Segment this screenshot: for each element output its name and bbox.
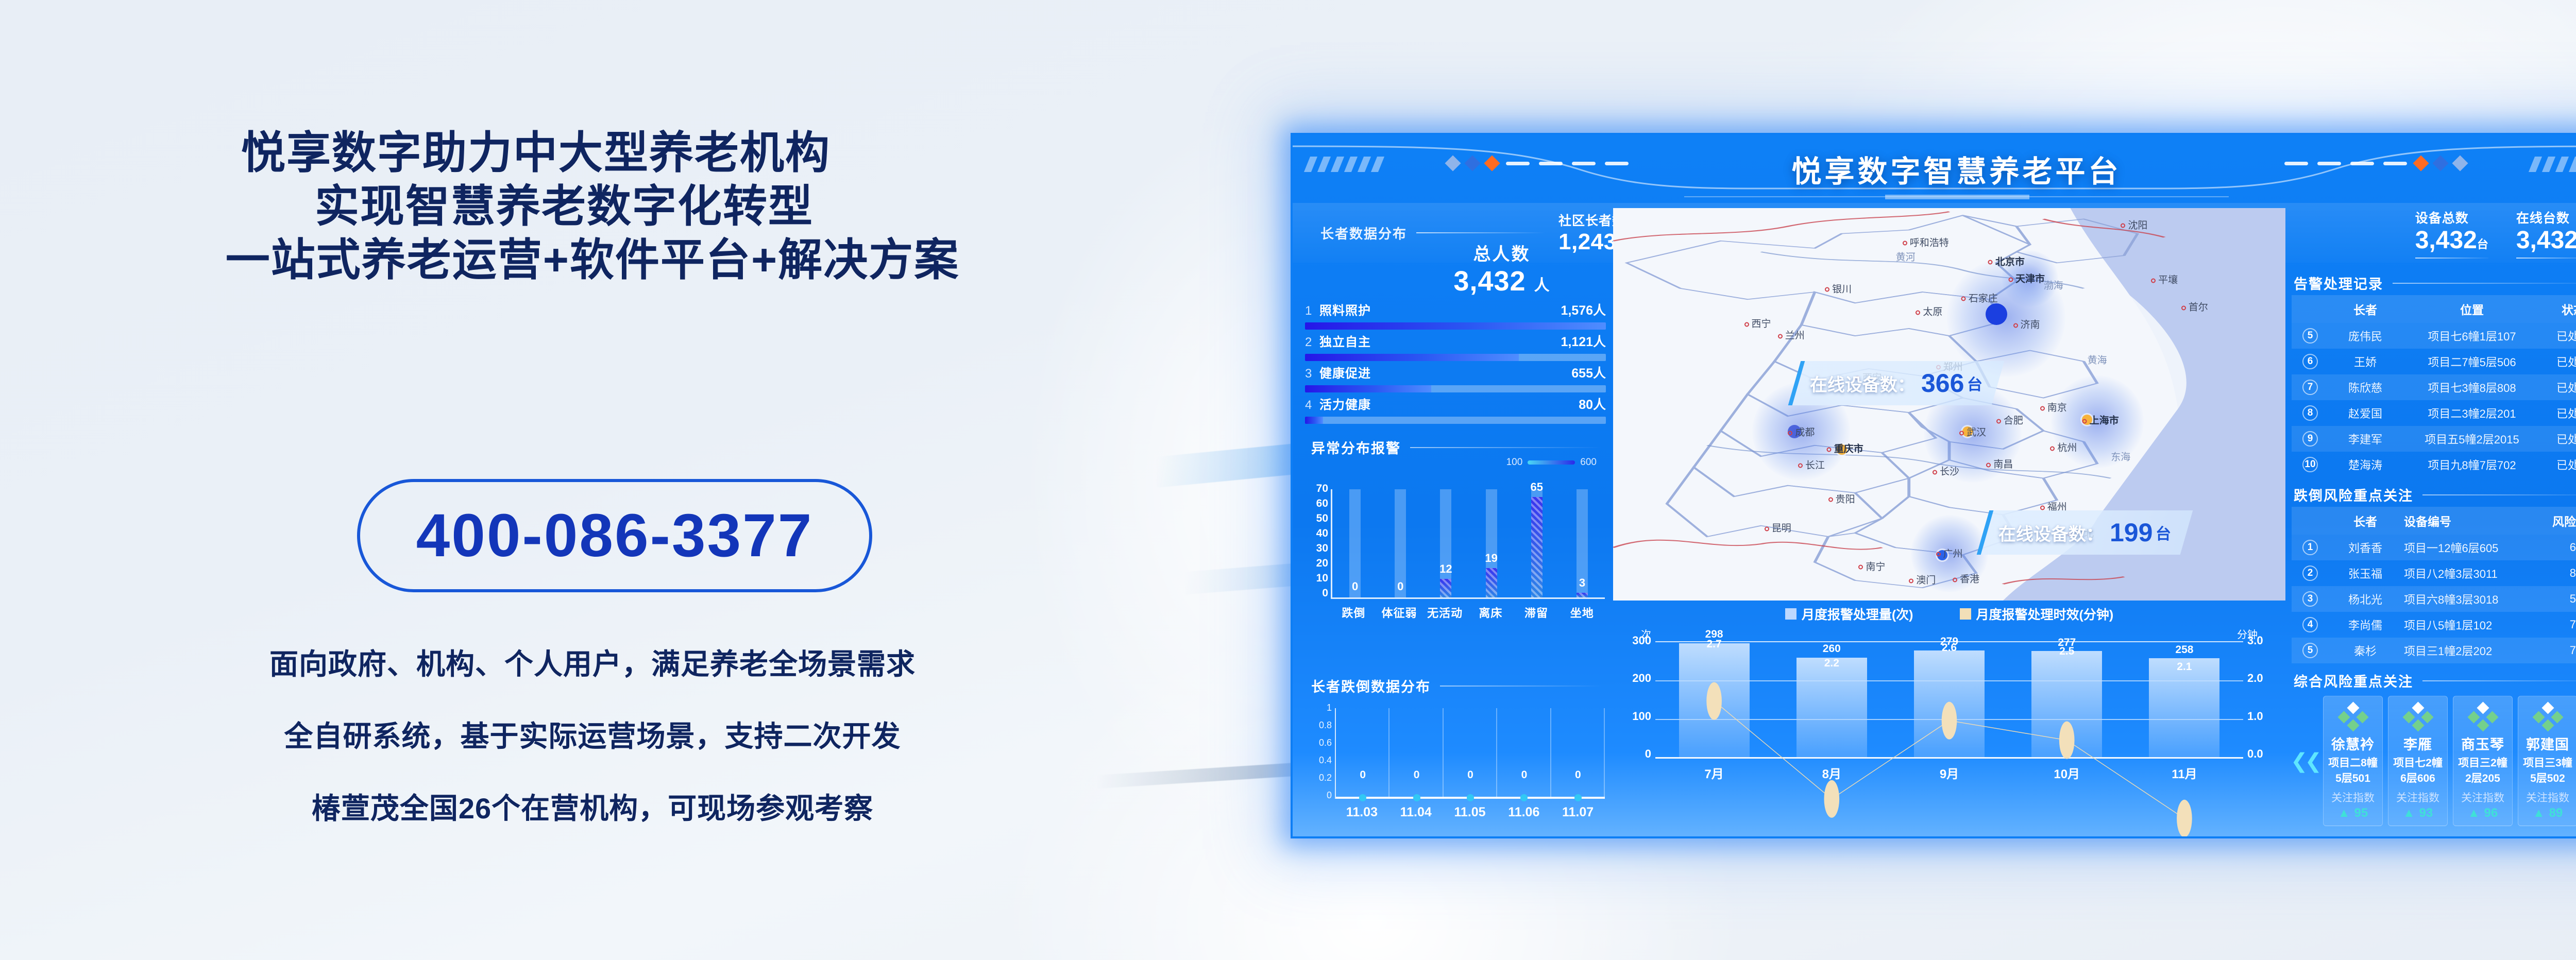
y-tick-left: 100 [1624,711,1651,722]
row-status: 已处理 [2540,328,2576,344]
risk-card[interactable]: 李雁 项目七2幢6层606 关注指数 ▲93 [2388,696,2448,826]
table-row[interactable]: 1 刘香香 项目一12幢6层605 67 [2292,535,2576,560]
map-city-label: 上海市 [2082,413,2119,427]
row-status: 已处理 [2540,431,2576,447]
y-tick: 30 [1308,543,1328,554]
row-device-id: 项目一12幢6层605 [2404,539,2545,556]
device-stats: 设备总数 3,432台 在线台数 3,432台 [2415,203,2576,263]
row-elder-name: 赵爱国 [2327,405,2404,421]
fall-points [1336,794,1605,801]
map-city-label: 南宁 [1858,559,1885,573]
card-index-label: 关注指数 [2326,790,2380,805]
triangle-up-icon: ▲ [2338,806,2350,820]
row-index: 7 [2294,380,2327,395]
card-address: 项目三3幢5层502 [2520,755,2575,785]
row-value: 80人 [1579,395,1606,413]
y-tick-left: 0 [1624,748,1651,760]
bar-value: 12 [1430,562,1461,576]
row-index: 3 [2294,591,2327,607]
map-city-label: 平壤 [2151,272,2178,286]
map-city-label: 银川 [1825,281,1852,295]
row-status: 已处理 [2540,405,2576,421]
row-elder-name: 李建军 [2327,431,2404,447]
card-index-value: ▲93 [2391,806,2445,820]
stat-value: 1,243 [1558,229,1617,254]
card-index-label: 关注指数 [2455,790,2510,805]
row-name: 照料照护 [1319,300,1371,318]
table-row[interactable]: 2 张玉福 项目八2幢3层3011 88 [2292,560,2576,586]
distribution-row: 2 独立自主 1,121人 [1305,332,1606,361]
card-name: 李雁 [2391,733,2445,753]
row-index: 6 [2294,354,2327,369]
map-city-label: 济南 [2013,317,2040,331]
bar-value: 3 [1567,576,1598,590]
map-tag-label: 在线设备数： [1998,520,2104,545]
fall-plot: 10.80.60.40.20 00000 [1335,708,1605,799]
row-index: 5 [2294,643,2327,658]
row-elder-name: 杨北光 [2327,591,2404,607]
map-city-label: 贵阳 [1828,491,1855,505]
map-tag-online-199: 在线设备数： 199 台 [1976,510,2193,555]
map-tag-value: 199 [2110,518,2153,547]
row-bar-track [1305,322,1606,330]
row-index: 8 [2294,405,2327,421]
dashboard-window: 悦享数字智慧养老平台 长者数据分布 社区长者数 1,243人 80岁以上：859… [1291,133,2576,838]
fall-gridlines [1336,708,1605,799]
abnormal-plot: 706050403020100 0 0 12 19 65 3 [1331,489,1605,597]
map-city-label: 澳门 [1909,573,1936,587]
row-elder-name: 张玉福 [2327,565,2404,581]
legend-max: 600 [1580,457,1597,468]
map-city-label: 沈阳 [2121,217,2147,231]
alarm-records-panel: 告警处理记录 长者 位置 状态 5 庞伟民 项目七6幢1层107 已处理 6 王… [2289,268,2576,477]
point-value: 0 [1551,769,1605,781]
map-city-label: 杭州 [2050,440,2077,454]
triangle-up-icon: ▲ [2468,806,2480,820]
panel-title-text: 长者跌倒数据分布 [1311,676,1431,696]
card-index-value: ▲96 [2455,806,2510,820]
row-risk-index: 88 [2545,567,2576,580]
monthly-legend: 月度报警处理量(次) 月度报警处理时效(分钟) [1619,605,2279,623]
bar-column: 12 [1423,489,1468,597]
elder-distribution-title: 长者数据分布 [1320,224,1407,243]
row-elder-name: 王娇 [2327,353,2404,370]
fall-x-axis: 11.0311.0411.0511.0611.07 [1335,805,1605,820]
row-elder-name: 楚海涛 [2327,456,2404,473]
map-city-label: 兰州 [1778,328,1805,342]
monthly-plot: 3002001000 3.02.01.00.0 298 260 279 277 … [1655,641,2243,759]
x-tick: 11.06 [1497,805,1551,820]
bar-value: 0 [1340,580,1370,593]
subtext-1: 面向政府、机构、个人用户，满足养老全场景需求 [0,641,1185,683]
map-pin-beijing[interactable] [1986,303,2007,325]
table-row[interactable]: 5 秦杉 项目三1幢2层202 78 [2292,638,2576,663]
headline-2: 实现智慧养老数字化转型 [0,180,1185,233]
row-elder-name: 秦杉 [2327,642,2404,659]
legend-gradient-bar [1528,460,1575,465]
y-tick: 50 [1308,513,1328,524]
map-tag-value: 366 [1921,368,1964,398]
stat-value: 3,432 [2415,227,2477,254]
map-city-label: 长沙 [1933,464,1959,478]
bar-column: 65 [1514,489,1560,597]
table-header: 长者 位置 状态 [2292,295,2576,323]
fall-distribution-chart: 长者跌倒数据分布 10.80.60.40.20 00000 11.0311.04… [1301,671,1610,836]
map-city-label: 合肥 [1996,413,2023,427]
line-value: 2.6 [1942,642,1957,654]
card-name: 郭建国 [2520,733,2575,753]
abnormal-alarm-chart: 异常分布报警 100 600 706050403020100 0 0 12 [1301,430,1610,666]
y-tick: 0.8 [1307,721,1332,730]
risk-card[interactable]: 徐慧衿 项目二8幢5层501 关注指数 ▲95 [2323,696,2383,826]
distribution-rows: 1 照料照护 1,576人 2 独立自主 1,121人 3 健康促进 655人 … [1301,300,1610,424]
fall-risk-heading: 跌倒风险重点关注 [2289,479,2576,507]
y-tick-right: 0.0 [2247,748,2275,760]
elder-distribution-panel: 总人数 3,432 人 1 照料照护 1,576人 2 独立自主 1,121人 … [1301,268,1610,426]
abnormal-x-axis: 跌倒体征弱无活动离床滞留坐地 [1331,604,1605,621]
y-tick: 0.2 [1307,773,1332,782]
x-tick: 坐地 [1559,604,1605,621]
row-name: 独立自主 [1319,332,1371,350]
distribution-row: 4 活力健康 80人 [1305,395,1606,424]
fall-risk-panel: 跌倒风险重点关注 长者 设备编号 风险指数 1 刘香香 项目一12幢6层605 … [2289,479,2576,663]
legend-time: 月度报警处理时效(分钟) [1960,605,2114,623]
map-sea-label: 渤海 [2044,278,2063,292]
y-tick-right: 2.0 [2247,673,2275,684]
fall-risk-table: 长者 设备编号 风险指数 1 刘香香 项目一12幢6层605 67 2 张玉福 … [2292,507,2576,663]
diamond-cluster-icon [2326,702,2380,731]
map-city-label: 南昌 [1986,457,2013,471]
line-value: 2.1 [2177,661,2192,673]
card-address: 项目七2幢6层606 [2391,755,2445,785]
card-name: 徐慧衿 [2326,733,2380,753]
bar-column: 19 [1469,489,1514,597]
map-city-label: 天津市 [2008,271,2045,285]
row-name: 活力健康 [1319,395,1371,413]
y-tick-right: 3.0 [2247,635,2275,646]
x-tick: 体征弱 [1377,604,1422,621]
row-elder-name: 庞伟民 [2327,328,2404,344]
table-header: 长者 设备编号 风险指数 [2292,507,2576,535]
row-index: 2 [1305,335,1319,350]
phone-pill[interactable]: 400-086-3377 [357,479,872,592]
left-column: 总人数 3,432 人 1 照料照护 1,576人 2 独立自主 1,121人 … [1301,268,1610,836]
x-tick: 无活动 [1422,604,1468,621]
row-position: 项目七6幢1层107 [2404,328,2540,344]
row-value: 655人 [1571,363,1606,382]
carousel-prev-icon[interactable]: ❮❮ [2291,749,2319,773]
row-index: 1 [1305,304,1319,318]
map-city-label: 太原 [1916,304,1942,318]
table-row[interactable]: 7 陈欣慈 项目七3幢8层808 已处理 [2292,374,2576,400]
stat-label: 在线台数 [2516,208,2576,227]
map-city-label: 广州 [1936,546,1962,560]
bar-column: 0 [1378,489,1423,597]
triangle-up-icon: ▲ [2533,806,2545,820]
x-tick: 11.07 [1551,805,1605,820]
row-index: 9 [2294,431,2327,447]
total-value: 3,432 [1453,266,1526,297]
panel-title-text: 综合风险重点关注 [2294,671,2413,691]
y-tick: 0.6 [1307,738,1332,747]
y-tick: 0.4 [1307,756,1332,765]
row-index: 1 [2294,540,2327,555]
row-bar-track [1305,354,1606,361]
row-status: 已处理 [2540,456,2576,473]
diamond-cluster-icon [2520,702,2575,731]
card-index-value: ▲95 [2326,806,2380,820]
alarm-records-heading: 告警处理记录 [2289,268,2576,295]
map-city-label: 长江 [1798,457,1825,471]
bar-column: 0 [1332,489,1378,597]
map-city-label: 南京 [2040,400,2067,414]
stat-value: 3,432 [2516,227,2576,254]
abnormal-legend: 100 600 [1506,457,1597,468]
line-value: 2.7 [1706,638,1721,650]
y-tick: 40 [1308,528,1328,539]
x-tick: 离床 [1468,604,1514,621]
overall-risk-panel: 综合风险重点关注 ❮❮ 徐慧衿 项目二8幢5层501 关注指数 ▲95 李雁 项… [2289,665,2576,826]
monthly-line-series [1655,642,2243,836]
stat-devices-total: 设备总数 3,432台 [2415,208,2488,259]
abnormal-bars: 0 0 12 19 65 3 [1332,489,1605,597]
row-index: 2 [2294,565,2327,581]
alarm-records-table: 长者 位置 状态 5 庞伟民 项目七6幢1层107 已处理 6 王娇 项目二7幢… [2292,295,2576,477]
map-city-label: 呼和浩特 [1903,235,1949,249]
y-tick: 0 [1308,588,1328,598]
stat-unit: 台 [2477,238,2488,251]
map-city-label: 北京市 [1988,254,2025,268]
row-bar-track [1305,385,1606,392]
triangle-up-icon: ▲ [2403,806,2415,820]
y-tick-left: 300 [1624,635,1651,646]
phone-cta[interactable]: 400-086-3377 [199,479,1030,592]
row-name: 健康促进 [1319,363,1371,381]
distribution-row: 1 照料照护 1,576人 [1305,300,1606,330]
map-sea-label: 黄河 [1896,249,1916,263]
monthly-y-left: 3002001000 [1624,635,1651,760]
fall-values: 00000 [1336,769,1605,781]
right-column: 告警处理记录 长者 位置 状态 5 庞伟民 项目七6幢1层107 已处理 6 王… [2289,268,2576,836]
row-risk-index: 78 [2545,644,2576,657]
point-value: 0 [1444,769,1497,781]
row-device-id: 项目八2幢3层3011 [2404,565,2545,581]
headline-1: 悦享数字助力中大型养老机构 [0,126,1185,180]
monthly-y-right: 3.02.01.00.0 [2247,635,2275,760]
diamond-cluster-icon [2455,702,2510,731]
row-position: 项目二7幢5层506 [2404,353,2540,370]
y-tick: 60 [1308,498,1328,509]
y-tick: 20 [1308,558,1328,569]
y-tick: 0 [1307,791,1332,800]
table-row[interactable]: 6 王娇 项目二7幢5层506 已处理 [2292,349,2576,374]
row-position: 项目七3幢8层808 [2404,379,2540,396]
x-tick: 11.04 [1389,805,1443,820]
map-city-label: 首尔 [2181,300,2208,314]
row-index: 4 [2294,617,2327,632]
y-tick-right: 1.0 [2247,711,2275,722]
card-index-label: 关注指数 [2391,790,2445,805]
distribution-row: 3 健康促进 655人 [1305,363,1606,392]
row-status: 已处理 [2540,353,2576,370]
map-city-label: 香港 [1953,572,1979,586]
card-address: 项目二8幢5层501 [2326,755,2380,785]
row-bar-track [1305,417,1606,424]
bar-value: 65 [1521,481,1552,494]
overall-risk-heading: 综合风险重点关注 [2289,665,2576,693]
total-unit: 人 [1534,277,1550,294]
row-device-id: 项目六8幢3层3018 [2404,591,2545,607]
fall-y-axis: 10.80.60.40.20 [1307,703,1332,800]
point-value: 0 [1389,769,1443,781]
map-city-label: 武汉 [1959,425,1986,439]
map-tag-unit: 台 [2156,521,2171,544]
row-index: 5 [2294,328,2327,344]
risk-card[interactable]: 郭建国 项目三3幢5层502 关注指数 ▲89 [2518,696,2576,826]
row-risk-index: 52 [2545,592,2576,606]
card-address: 项目三2幢2层205 [2455,755,2510,785]
map-tag-unit: 台 [1968,372,1983,395]
headline-3: 一站式养老运营+软件平台+解决方案 [0,233,1185,287]
dashboard-header: 悦享数字智慧养老平台 [1293,135,2576,203]
x-tick: 11.05 [1443,805,1497,820]
table-row[interactable]: 9 李建军 项目五5幢2层2015 已处理 [2292,426,2576,452]
abnormal-alarm-heading: 异常分布报警 [1306,432,1605,459]
card-name: 商玉琴 [2455,733,2510,753]
panel-title-text: 告警处理记录 [2294,273,2383,293]
subtext-2: 全自研系统，基于实际运营场景，支持二次开发 [0,713,1185,755]
card-index-value: ▲89 [2520,806,2575,820]
stat-label: 设备总数 [2415,208,2488,227]
legend-volume: 月度报警处理量(次) [1785,605,1913,623]
y-tick: 70 [1308,483,1328,494]
fall-distribution-heading: 长者跌倒数据分布 [1306,671,1605,698]
map-tag-online-366: 在线设备数： 366 台 [1788,361,2005,405]
card-index-label: 关注指数 [2520,790,2575,805]
map-city-label: 重庆市 [1827,441,1863,455]
bar-value: 19 [1476,552,1507,565]
y-tick-left: 200 [1624,673,1651,684]
map-city-label: 昆明 [1765,521,1791,535]
table-row[interactable]: 3 杨北光 项目六8幢3层3018 52 [2292,586,2576,612]
legend-min: 100 [1506,457,1523,468]
point-value: 0 [1336,769,1389,781]
dashboard-title: 悦享数字智慧养老平台 [1293,147,2576,191]
table-row[interactable]: 4 李尚儒 项目八5幢1层102 76 [2292,612,2576,638]
row-value: 1,576人 [1561,300,1606,319]
row-position: 项目五5幢2层2015 [2404,431,2540,447]
row-elder-name: 李尚儒 [2327,616,2404,633]
risk-card[interactable]: 商玉琴 项目三2幢2层205 关注指数 ▲96 [2453,696,2513,826]
panel-title-text: 跌倒风险重点关注 [2294,485,2413,505]
point-value: 0 [1497,769,1551,781]
map-tag-label: 在线设备数： [1810,371,1915,396]
row-position: 项目二3幢2层201 [2404,405,2540,421]
map-sea-label: 黄海 [2088,353,2107,367]
x-tick: 滞留 [1514,604,1560,621]
row-risk-index: 76 [2545,618,2576,631]
row-elder-name: 刘香香 [2327,539,2404,556]
row-index: 10 [2294,457,2327,472]
row-status: 已处理 [2540,379,2576,396]
panel-title-text: 异常分布报警 [1311,437,1401,457]
row-index: 3 [1305,367,1319,381]
line-value: 2.2 [1824,657,1839,670]
table-row[interactable]: 10 楚海涛 项目九8幢7层702 已处理 [2292,452,2576,477]
monthly-combo-chart: 月度报警处理量(次) 月度报警处理时效(分钟) 次 分钟 3002001000 … [1616,601,2282,836]
x-tick: 跌倒 [1331,604,1377,621]
table-row[interactable]: 8 赵爱国 项目二3幢2层201 已处理 [2292,400,2576,426]
china-map[interactable]: 沈阳呼和浩特北京市天津市平壤银川石家庄太原首尔西宁济南兰州郑州西安南京上海市合肥… [1613,208,2285,601]
line-value: 2.5 [2059,645,2074,658]
row-value: 1,121人 [1561,332,1606,350]
y-tick: 10 [1308,573,1328,584]
abnormal-y-axis: 706050403020100 [1308,483,1328,598]
map-sea-label: 东海 [2111,450,2130,464]
x-tick: 11.03 [1335,805,1389,820]
diamond-cluster-icon [2391,702,2445,731]
marketing-copy: 悦享数字助力中大型养老机构 实现智慧养老数字化转型 一站式养老运营+软件平台+解… [0,126,1185,287]
row-elder-name: 陈欣慈 [2327,379,2404,396]
y-tick: 1 [1307,703,1332,712]
bar-value: 0 [1385,580,1416,593]
elder-distribution-heading: 长者数据分布 [1303,203,1545,263]
map-city-label: 西宁 [1744,316,1771,330]
stat-devices-online: 在线台数 3,432台 [2516,208,2576,259]
risk-card-list: 徐慧衿 项目二8幢5层501 关注指数 ▲95 李雁 项目七2幢6层606 关注… [2323,696,2576,826]
row-position: 项目九8幢7层702 [2404,456,2540,473]
center-column: 沈阳呼和浩特北京市天津市平壤银川石家庄太原首尔西宁济南兰州郑州西安南京上海市合肥… [1616,268,2282,836]
map-city-label: 石家庄 [1961,290,1998,304]
row-device-id: 项目八5幢1层102 [2404,616,2545,633]
phone-number[interactable]: 400-086-3377 [416,501,814,571]
table-row[interactable]: 5 庞伟民 项目七6幢1层107 已处理 [2292,323,2576,349]
row-risk-index: 67 [2545,541,2576,554]
subtext-3: 椿萱茂全国26个在营机构，可现场参观考察 [0,785,1185,827]
row-device-id: 项目三1幢2层202 [2404,642,2545,659]
map-city-label: 成都 [1788,425,1815,439]
row-index: 4 [1305,398,1319,413]
bar-column: 3 [1560,489,1605,597]
